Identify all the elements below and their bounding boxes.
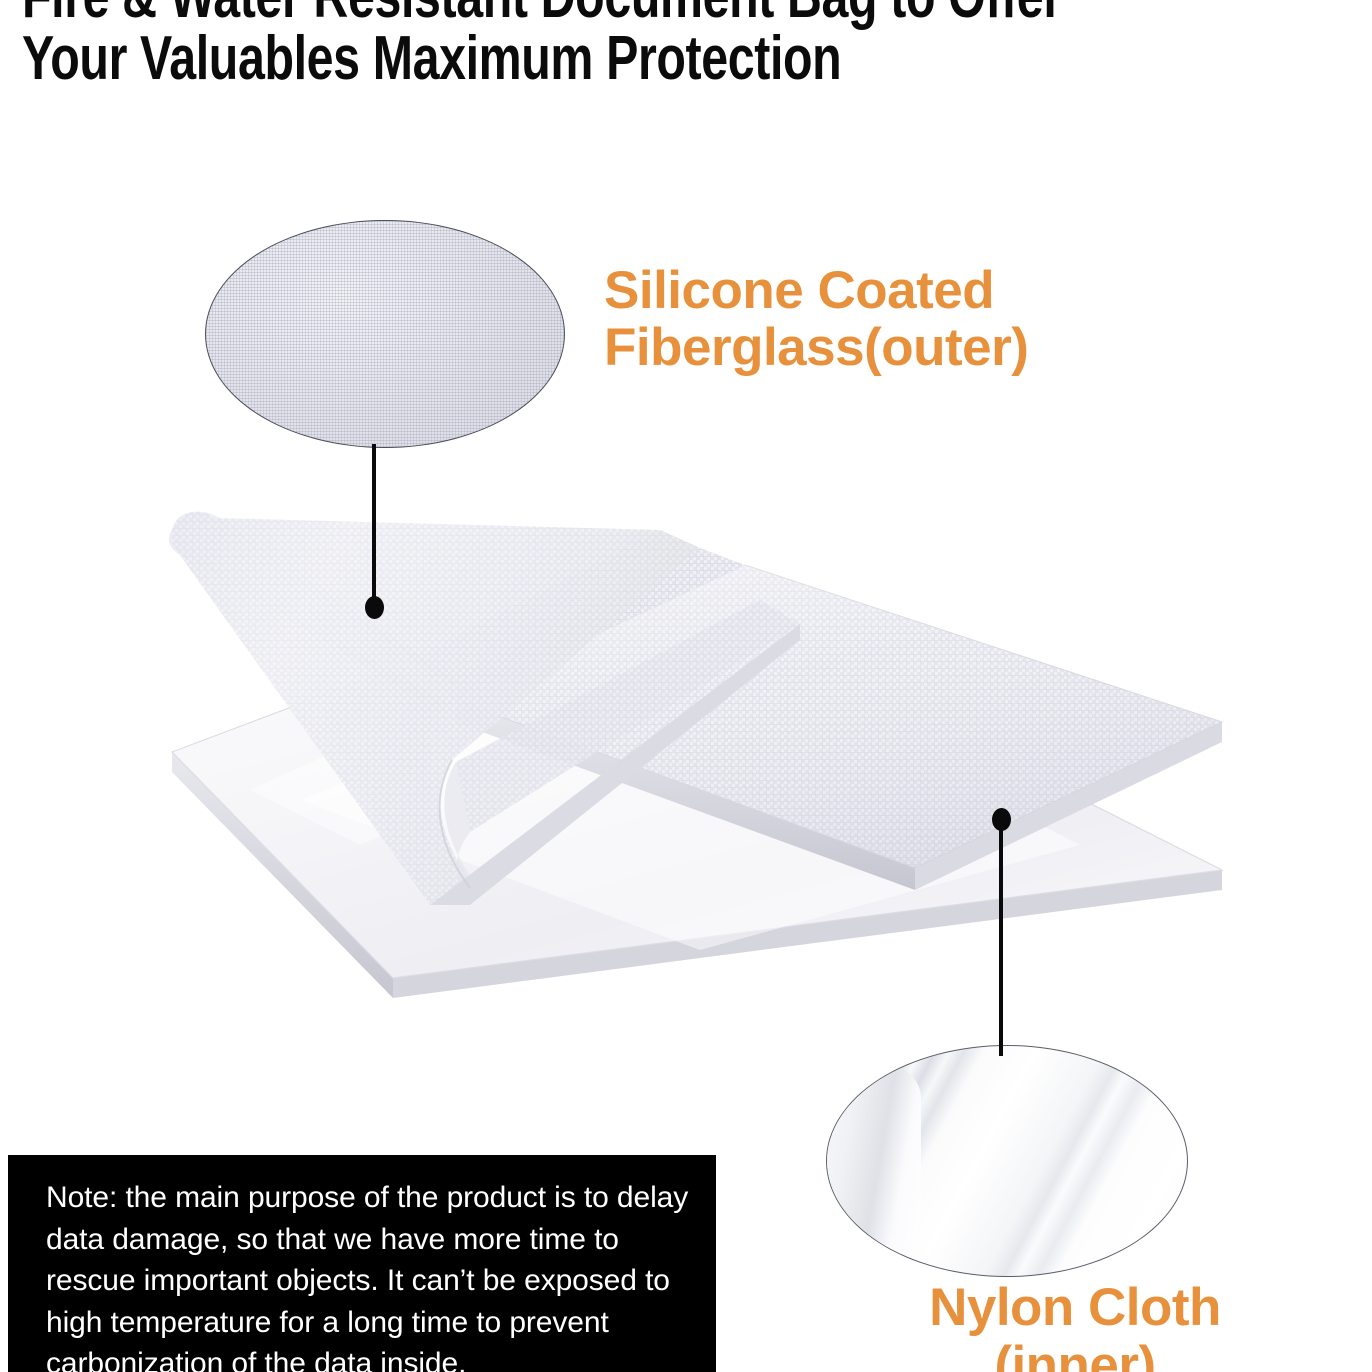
headline-line-2: Your Valuables Maximum Protection: [22, 28, 1114, 90]
infographic-page: Fire & Water Resistant Document Bag to O…: [0, 0, 1372, 1372]
leader-dot: [992, 808, 1011, 831]
outer-label-line-2: Fiberglass(outer): [604, 319, 1164, 376]
inner-material-label: Nylon Cloth (inner): [840, 1279, 1310, 1372]
inner-label-line-2: (inner): [840, 1337, 1310, 1372]
inner-layer-sheet: [172, 576, 1222, 998]
note-box: Note: the main purpose of the product is…: [8, 1155, 716, 1372]
outer-label-line-1: Silicone Coated: [604, 262, 1164, 319]
nylon-crease: [826, 1060, 921, 1272]
leader-stem: [999, 816, 1003, 1056]
note-text: Note: the main purpose of the product is…: [46, 1177, 690, 1372]
outer-material-label: Silicone Coated Fiberglass(outer): [604, 262, 1164, 376]
inner-label-line-1: Nylon Cloth: [840, 1279, 1310, 1337]
leader-stem: [372, 444, 376, 610]
leader-dot: [365, 596, 384, 619]
nylon-swatch: [826, 1045, 1188, 1277]
fiberglass-swatch: [205, 220, 565, 448]
outer-layer-sheet: [169, 512, 1222, 905]
page-title: Fire & Water Resistant Document Bag to O…: [22, 0, 1114, 90]
